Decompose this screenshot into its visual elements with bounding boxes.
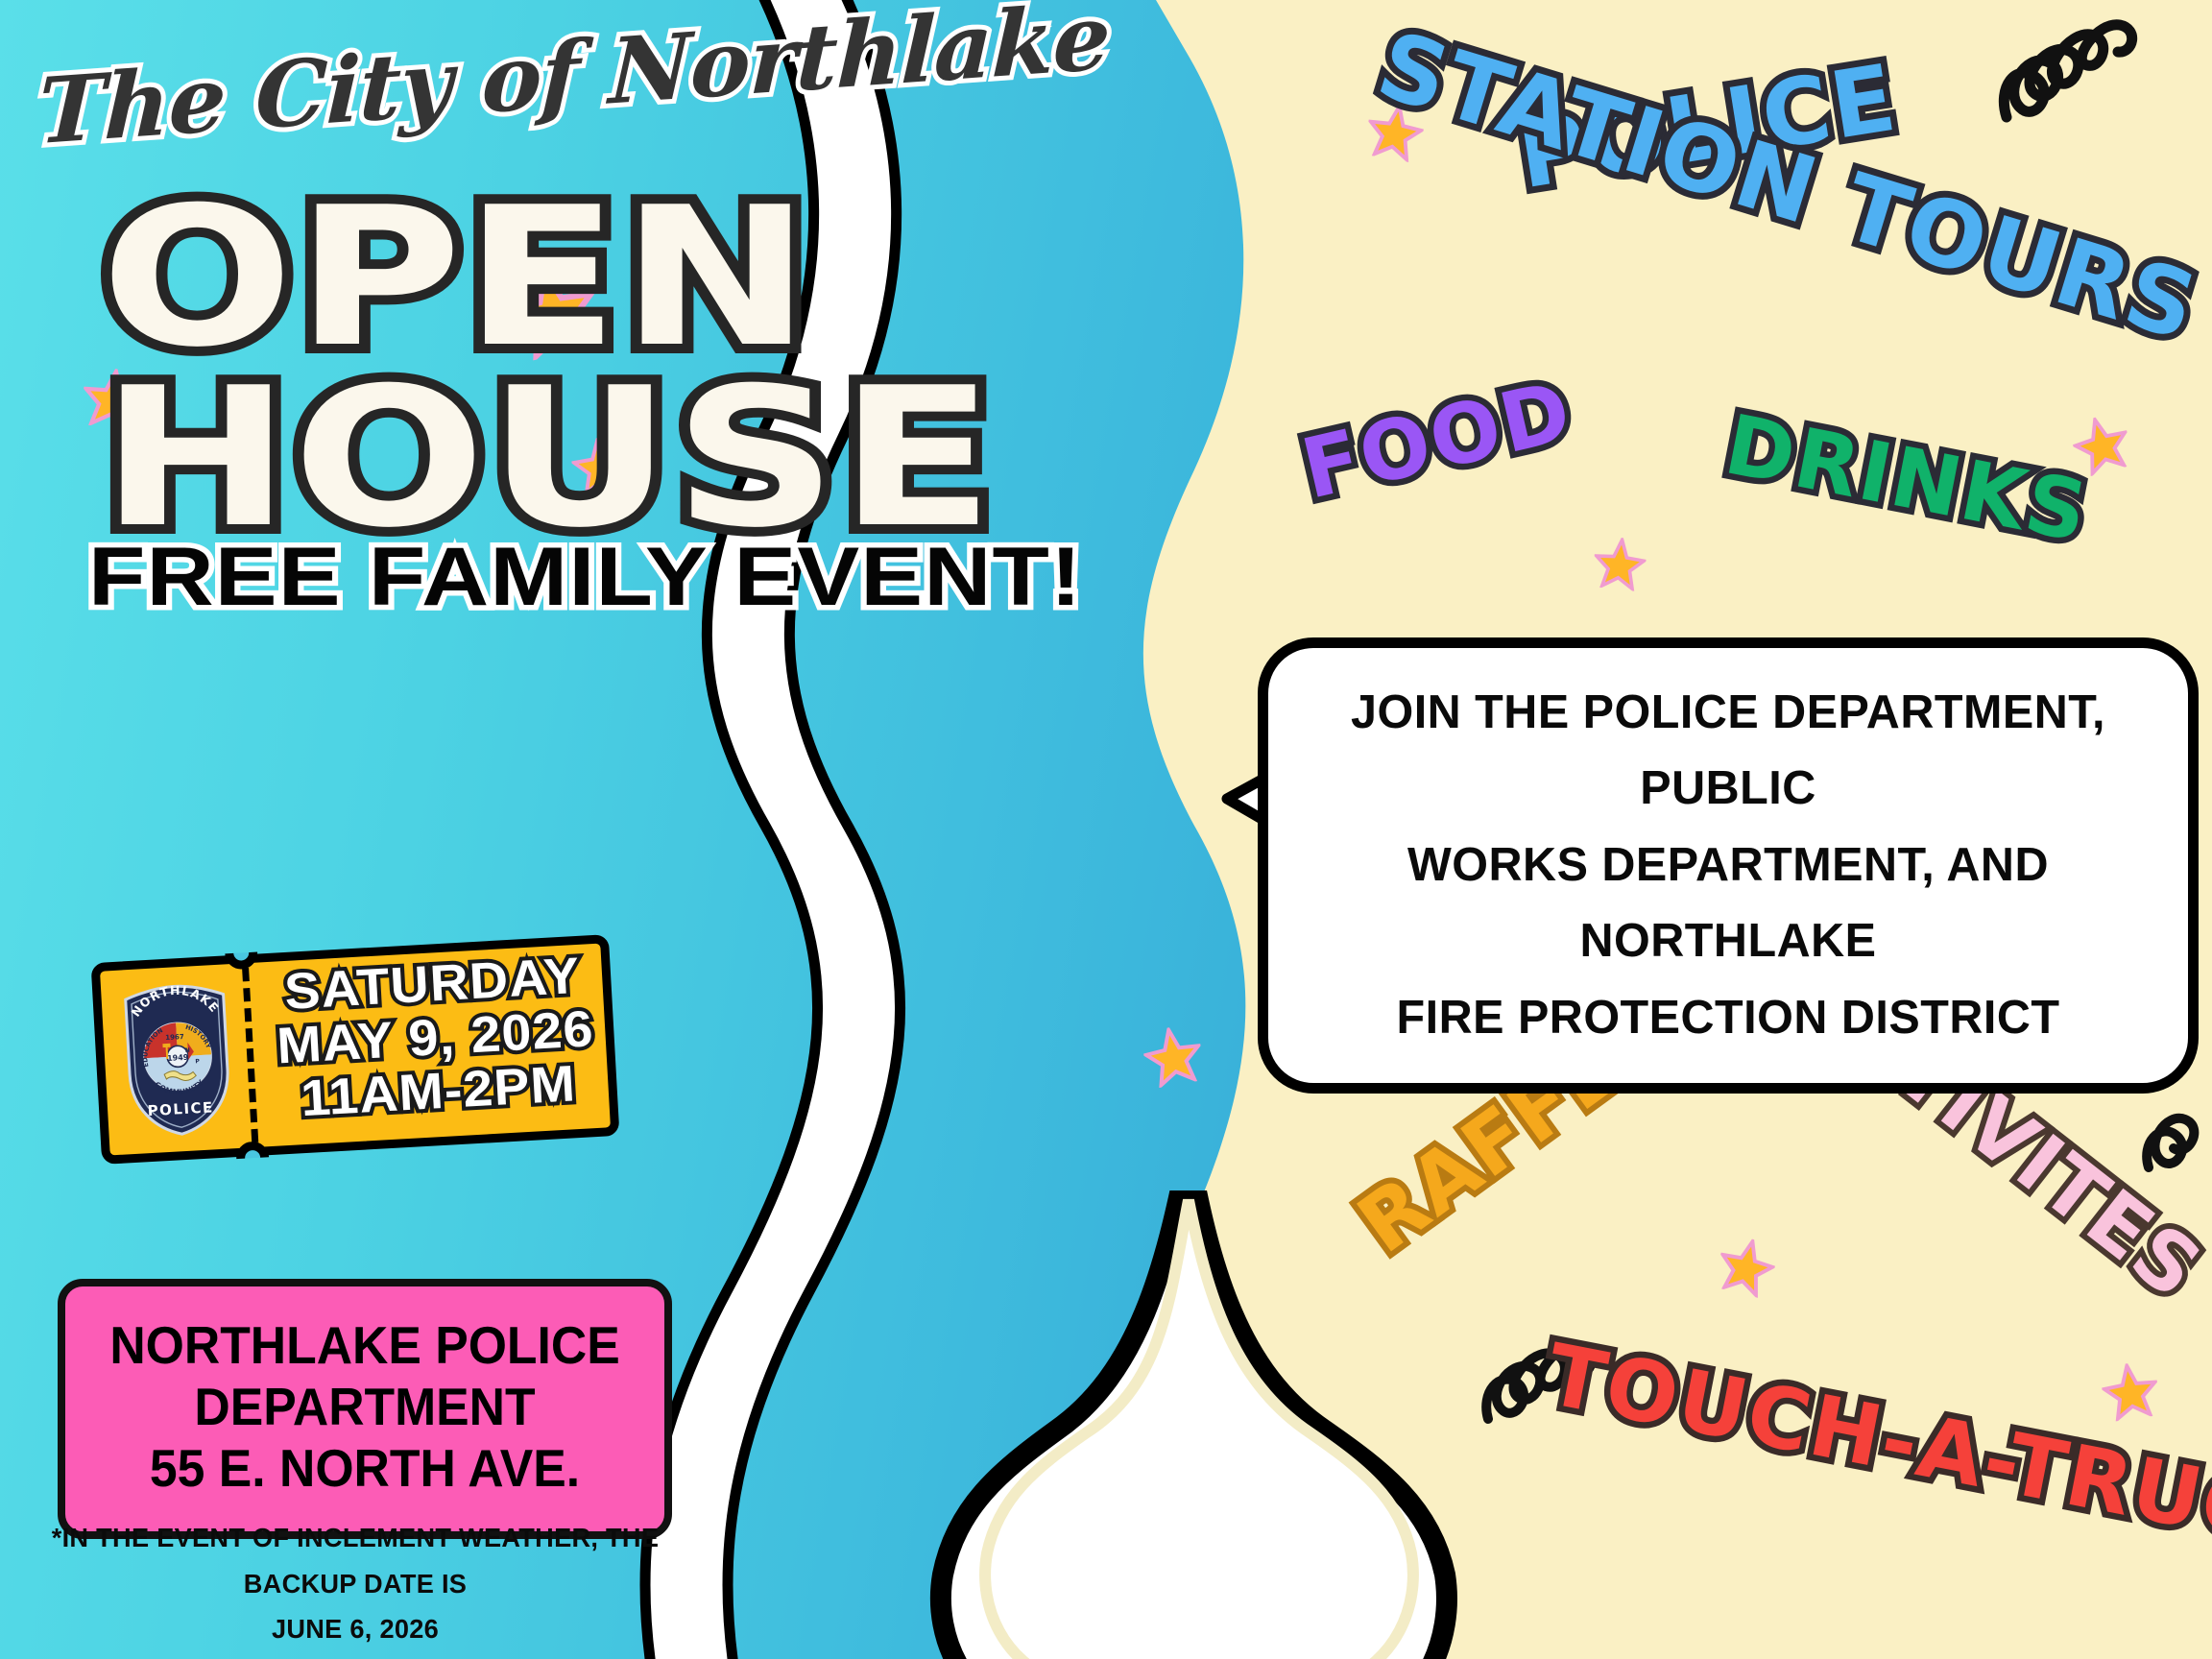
disclaimer-line-1: *IN THE EVENT OF INCLEMENT WEATHER, THE … (38, 1515, 672, 1606)
info-line-3: FIRE PROTECTION DISTRICT (1396, 992, 2059, 1044)
address-line-2: 55 E. NORTH AVE. (100, 1438, 631, 1500)
subheadline: FREE FAMILY EVENT! (88, 530, 1083, 625)
svg-text:1949: 1949 (167, 1053, 189, 1063)
star-icon (1591, 535, 1647, 591)
info-bubble: JOIN THE POLICE DEPARTMENT, PUBLIC WORKS… (1258, 637, 2199, 1094)
svg-text:N: N (185, 1047, 190, 1054)
coil-squiggle-icon (1993, 0, 2195, 125)
poster-canvas: The City of Northlake OPEN HOUSE FREE FA… (0, 0, 2212, 1659)
address-box: NORTHLAKE POLICE DEPARTMENT 55 E. NORTH … (58, 1279, 672, 1539)
police-badge-icon: 1949 1967 POLICE NORTHLAKE COMMUNITY EDU… (115, 980, 241, 1141)
star-icon (2099, 1359, 2162, 1423)
headline-line-1: OPEN (101, 188, 997, 369)
disclaimer-line-2: JUNE 6, 2026 (38, 1606, 672, 1652)
address-line-1: NORTHLAKE POLICE DEPARTMENT (100, 1315, 631, 1438)
info-bubble-text: JOIN THE POLICE DEPARTMENT, PUBLIC WORKS… (1307, 675, 2149, 1056)
headline-line-2: HOUSE (101, 369, 997, 549)
headline: OPEN HOUSE (101, 188, 859, 549)
info-line-1: JOIN THE POLICE DEPARTMENT, PUBLIC (1351, 686, 2105, 814)
star-icon (1140, 1022, 1207, 1090)
svg-text:POLICE: POLICE (147, 1098, 214, 1119)
info-line-2: WORKS DEPARTMENT, AND NORTHLAKE (1407, 839, 2049, 967)
ticket-date-text: SATURDAY MAY 9, 2026 11AM-2PM (264, 949, 607, 1129)
weather-disclaimer: *IN THE EVENT OF INCLEMENT WEATHER, THE … (38, 1515, 672, 1652)
event-ticket: 1949 1967 POLICE NORTHLAKE COMMUNITY EDU… (91, 934, 620, 1165)
svg-text:1967: 1967 (165, 1033, 184, 1042)
big-star-icon (922, 1190, 1459, 1659)
